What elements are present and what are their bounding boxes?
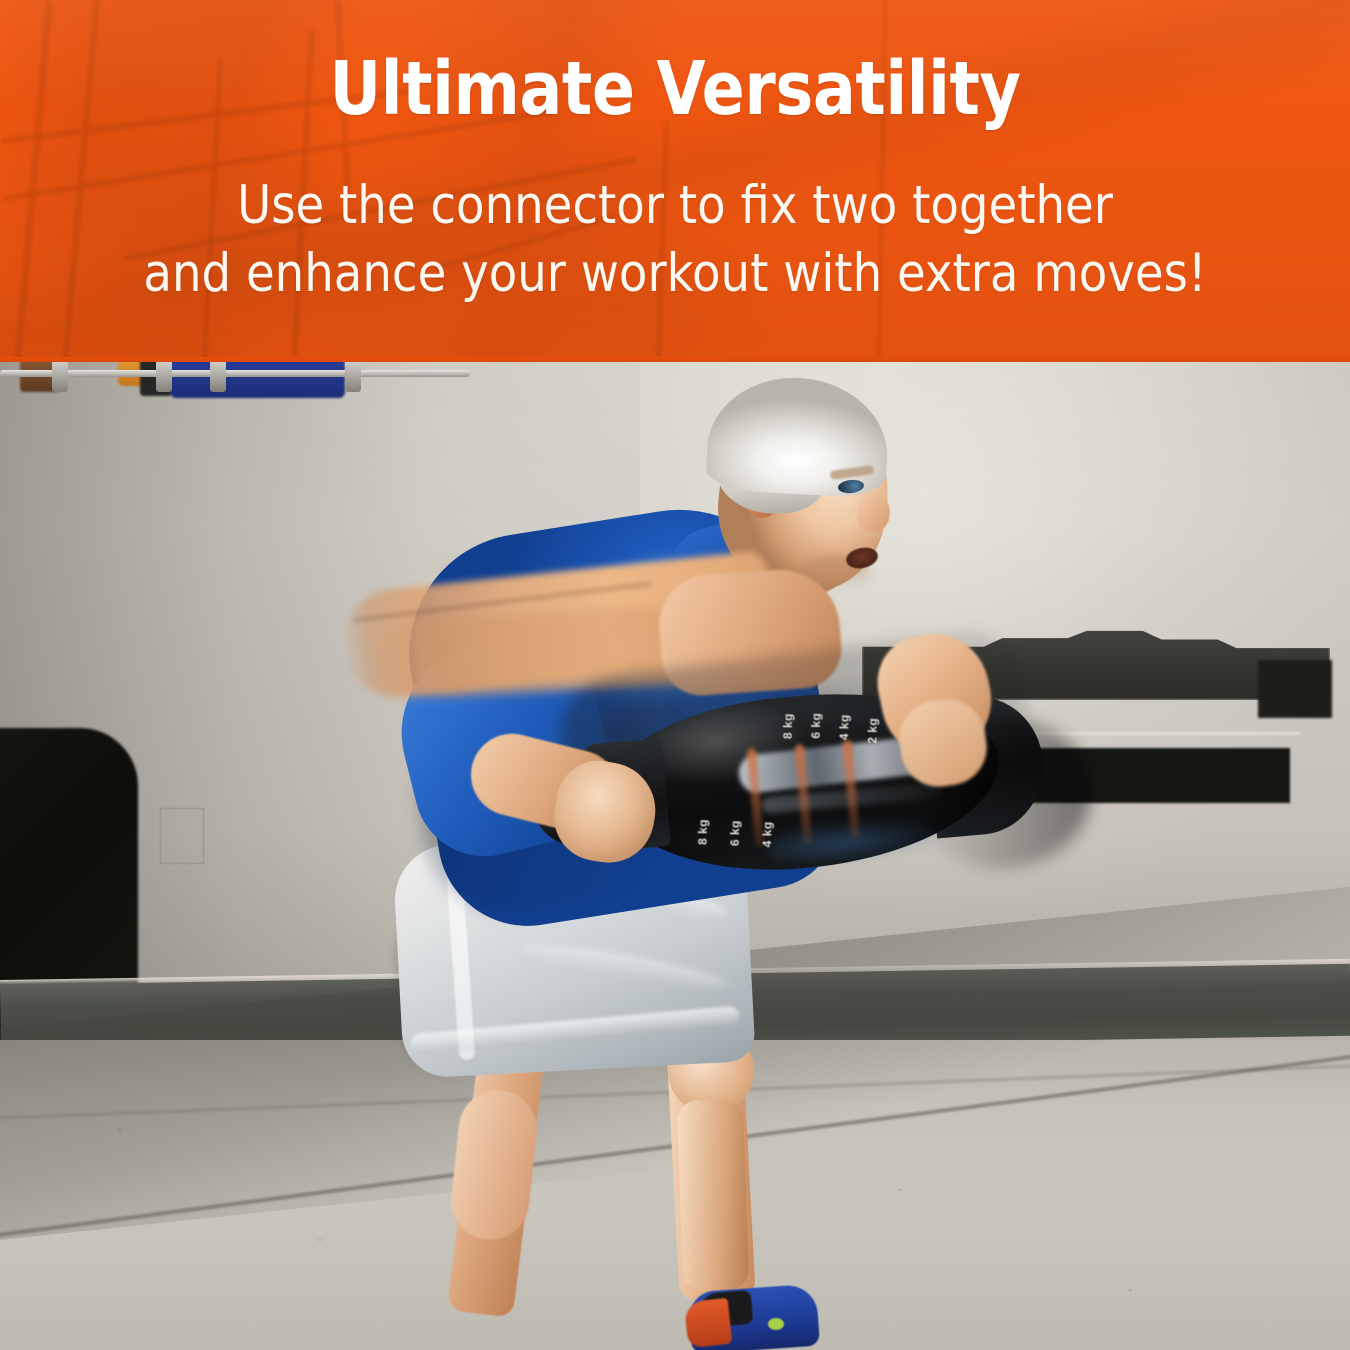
banner-subtitle: Use the connector to fix two together an…	[81, 172, 1269, 308]
aqua-bag-weight-label: 8 kg	[696, 819, 710, 845]
product-lifestyle-banner-image: 2 kg4 kg6 kg8 kg8 kg6 kg4 kg Ultimate Ve…	[0, 0, 1350, 1350]
aqua-bag-weight-label: 4 kg	[760, 821, 774, 847]
orange-headline-banner: Ultimate Versatility Use the connector t…	[0, 0, 1350, 362]
aqua-bag-weight-label: 2 kg	[865, 718, 879, 744]
back-calf	[447, 1086, 540, 1243]
shoe-orange-accent	[684, 1298, 733, 1348]
banner-title: Ultimate Versatility	[95, 52, 1256, 126]
aqua-bag-weight-label: 8 kg	[781, 713, 795, 739]
banner-subtitle-line-1: Use the connector to fix two together	[81, 172, 1269, 240]
aqua-bag-weight-label: 6 kg	[728, 820, 742, 846]
banner-subtitle-line-2: and enhance your workout with extra move…	[81, 240, 1269, 308]
shoe-lime-accent	[768, 1318, 784, 1330]
aqua-bag-weight-label: 6 kg	[809, 713, 823, 739]
banner-bottom-edge	[0, 357, 1350, 362]
white-hair	[705, 373, 891, 498]
front-shin	[677, 1099, 750, 1291]
aqua-bag-weight-label: 4 kg	[837, 714, 851, 740]
